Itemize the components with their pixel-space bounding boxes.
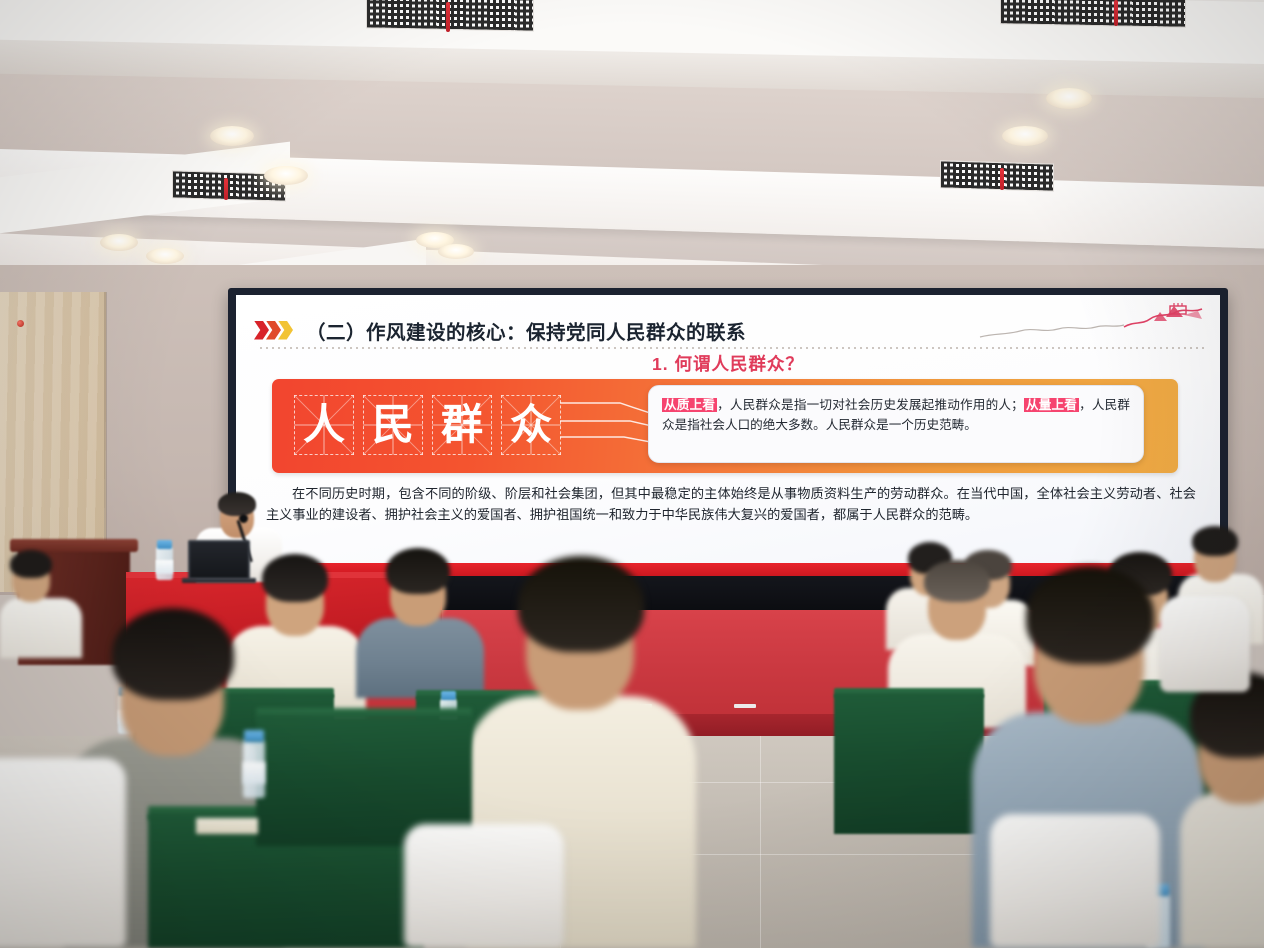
double-chevron-icon [254, 321, 296, 340]
slide-body-text: 在不同历史时期，包含不同的阶级、阶层和社会集团，但其中最稳定的主体始终是从事物质… [266, 483, 1196, 525]
callout-highlight-1: 从质上看 [662, 398, 717, 412]
audience-chair [1160, 596, 1250, 692]
grid-char: 群 [432, 395, 492, 455]
audience-hair [10, 550, 52, 578]
audience-chair [0, 758, 126, 948]
audience-hair [1026, 566, 1154, 664]
bottle-cap [157, 540, 172, 549]
slide-banner: 人 民 群 众 从质上看，人民群众是指一切对社会历史发展起推动作用的人；从量上看… [272, 379, 1178, 473]
grid-cell: 众 [501, 395, 561, 455]
vent-ribbon-marker [1000, 168, 1004, 190]
bottle-label [156, 560, 173, 574]
ceiling-downlight [1046, 88, 1092, 109]
audience-torso [356, 618, 484, 698]
ceiling [0, 0, 1264, 300]
audience-hair [262, 554, 328, 602]
ceiling-downlight [210, 126, 254, 146]
ceiling-downlight [100, 234, 138, 251]
ceiling-downlight [438, 244, 474, 259]
callout-connector-lines [560, 397, 656, 455]
audience-desk [834, 694, 984, 834]
audience-chair [990, 814, 1160, 948]
grid-cell: 民 [363, 395, 423, 455]
hvac-vent-top-left [366, 0, 534, 32]
audience-torso [1180, 792, 1264, 948]
grid-char: 民 [363, 395, 423, 455]
vent-ribbon-marker [446, 2, 450, 32]
audience-chair [404, 824, 564, 948]
vent-ribbon-marker [224, 178, 228, 200]
presenter-hair [218, 492, 256, 516]
ceiling-downlight [264, 166, 308, 185]
audience-hair [112, 608, 234, 700]
character-practice-grid: 人 民 群 众 [294, 395, 561, 455]
microphone-head [239, 514, 248, 523]
audience-member [356, 548, 484, 698]
callout-highlight-2: 从量上看 [1024, 398, 1079, 412]
hvac-vent-mid-right [940, 160, 1054, 191]
callout-segment-1: ，人民群众是指一切对社会历史发展起推动作用的人； [717, 398, 1024, 412]
audience-member [1180, 672, 1264, 948]
grid-char: 众 [501, 395, 561, 455]
wall-sensor-dot [17, 320, 24, 327]
slide-subtitle: 1. 何谓人民群众？ [236, 351, 1220, 376]
grid-char: 人 [294, 395, 354, 455]
slide-title: （二）作风建设的核心：保持党同人民群众的联系 [306, 316, 746, 345]
great-wall-mountain-motif-icon [978, 303, 1208, 351]
stage-floor-marker [734, 704, 756, 708]
notebook [196, 818, 258, 834]
grid-cell: 人 [294, 395, 354, 455]
audience-hair [518, 556, 644, 652]
callout-box: 从质上看，人民群众是指一切对社会历史发展起推动作用的人；从量上看，人民群众是指社… [648, 385, 1144, 463]
ceiling-downlight [146, 248, 184, 264]
floor-tile-line [760, 736, 761, 948]
hvac-vent-top-right [1000, 0, 1186, 28]
bottle-cap [244, 730, 264, 742]
bottle-label [243, 762, 265, 784]
projection-screen: （二）作风建设的核心：保持党同人民群众的联系 1. 何谓人民群众？ 人 民 群 … [236, 295, 1220, 563]
audience-hair [386, 548, 450, 594]
grid-cell: 群 [432, 395, 492, 455]
ceiling-downlight [1002, 126, 1048, 146]
bottle-cap [441, 691, 456, 700]
vent-ribbon-marker [1114, 0, 1118, 26]
photo-scene: （二）作风建设的核心：保持党同人民群众的联系 1. 何谓人民群众？ 人 民 群 … [0, 0, 1264, 948]
